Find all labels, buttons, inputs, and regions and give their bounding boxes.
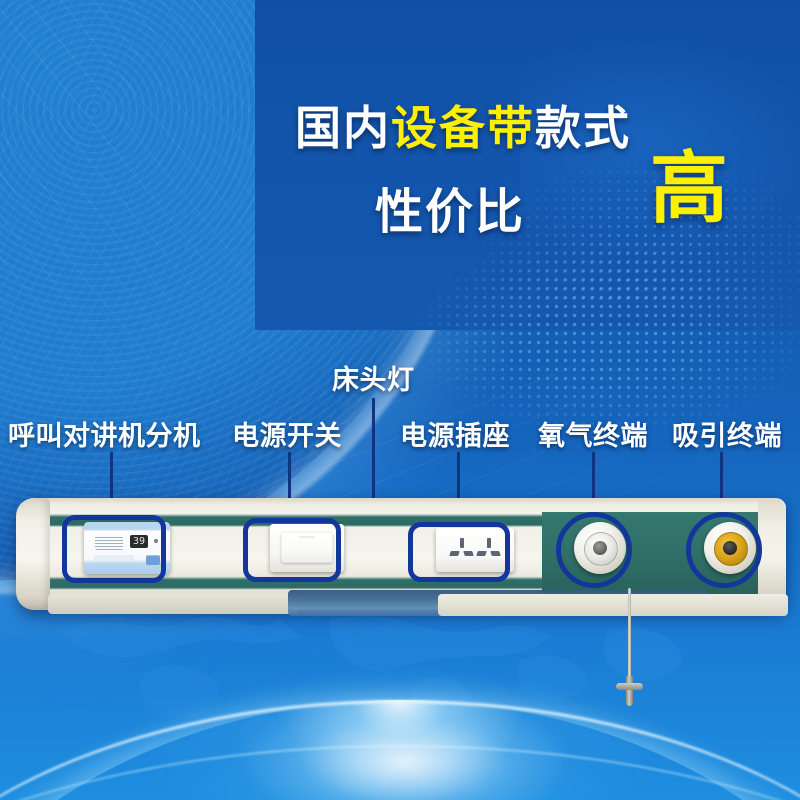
title-segment-style: 款式 bbox=[535, 101, 631, 155]
pull-cord-handle-stem bbox=[626, 676, 633, 706]
title-segment-domestic: 国内 bbox=[295, 101, 391, 155]
callout-label-power-socket: 电源插座 bbox=[400, 414, 510, 453]
callout-label-power-switch: 电源开关 bbox=[232, 414, 342, 453]
panel-lower-edge-right bbox=[438, 594, 788, 616]
page-title-line-2: 性价比 bbox=[375, 172, 525, 242]
horizon-hotspot bbox=[240, 690, 570, 800]
pull-cord-handle[interactable] bbox=[616, 676, 643, 706]
pull-cord-handle-crossbar bbox=[616, 683, 643, 690]
page-title-emphasis: 高 bbox=[650, 150, 728, 228]
promo-banner: 国内设备带款式 性价比 高 呼叫对讲机分机 电源开关 床头灯 电源插座 氧气终端… bbox=[0, 0, 800, 800]
callout-label-bed-lamp: 床头灯 bbox=[332, 358, 415, 397]
highlight-power-socket bbox=[408, 522, 510, 582]
panel-left-end-cap bbox=[16, 498, 50, 610]
callout-label-oxygen-terminal: 氧气终端 bbox=[538, 414, 648, 453]
highlight-suction-terminal bbox=[686, 512, 762, 588]
panel-lower-edge-left bbox=[48, 594, 298, 614]
highlight-power-switch bbox=[243, 518, 341, 582]
callout-label-suction-terminal: 吸引终端 bbox=[672, 414, 782, 453]
callout-label-intercom: 呼叫对讲机分机 bbox=[8, 414, 201, 453]
pull-cord[interactable] bbox=[628, 588, 631, 680]
highlight-intercom bbox=[62, 515, 166, 583]
title-segment-equipment-belt: 设备带 bbox=[391, 101, 535, 155]
page-title-line-1: 国内设备带款式 bbox=[295, 92, 631, 158]
highlight-oxygen-terminal bbox=[556, 512, 632, 588]
